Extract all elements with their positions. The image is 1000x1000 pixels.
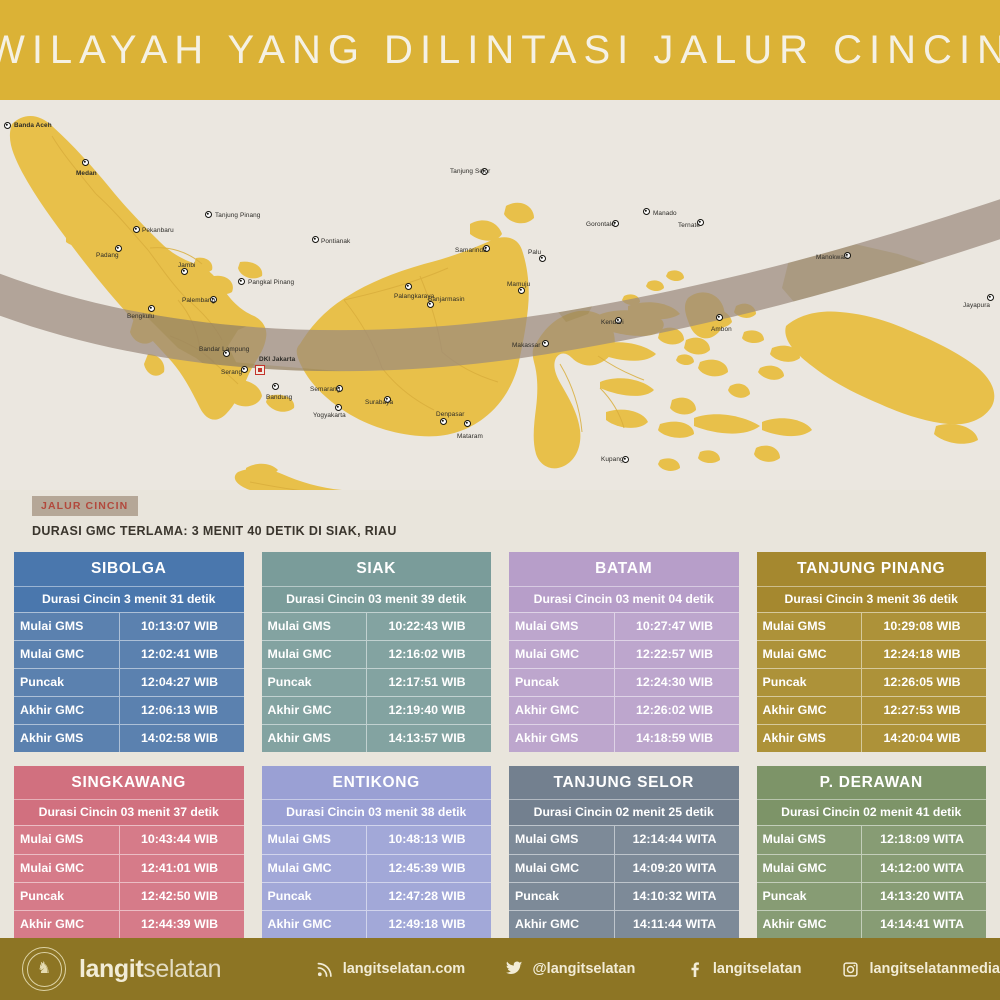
card-city-name: TANJUNG SELOR (509, 766, 739, 800)
city-label: Mamuju (507, 281, 530, 288)
row-label: Akhir GMS (14, 725, 120, 752)
table-row: Akhir GMC14:11:44 WITA (509, 910, 739, 938)
row-label: Akhir GMC (262, 911, 368, 938)
row-value: 12:47:28 WIB (367, 883, 491, 910)
row-value: 10:29:08 WIB (862, 613, 986, 640)
city-label: Bandung (266, 394, 292, 401)
instagram-icon (841, 960, 860, 979)
table-row: Akhir GMC12:44:39 WIB (14, 910, 244, 938)
table-row: Mulai GMS10:29:08 WIB (757, 612, 987, 640)
row-value: 12:06:13 WIB (120, 697, 244, 724)
table-row: Mulai GMS10:43:44 WIB (14, 825, 244, 853)
row-label: Akhir GMS (509, 725, 615, 752)
row-value: 14:14:41 WITA (862, 911, 986, 938)
row-label: Puncak (509, 669, 615, 696)
row-label: Mulai GMC (509, 641, 615, 668)
city-label: Serang (221, 369, 242, 376)
city-label: Manokwari (816, 254, 848, 261)
table-row: Puncak14:13:20 WITA (757, 882, 987, 910)
row-label: Puncak (757, 883, 863, 910)
row-value: 12:44:39 WIB (120, 911, 244, 938)
city-label: Denpasar (436, 411, 465, 418)
row-label: Puncak (262, 669, 368, 696)
social-twitter-label: @langitselatan (533, 961, 636, 977)
city-label: Palembang (182, 297, 215, 304)
city-marker (716, 314, 723, 321)
city-label: Jambi (178, 262, 196, 269)
row-label: Mulai GMS (14, 613, 120, 640)
card-city-name: P. DERAWAN (757, 766, 987, 800)
city-marker (464, 420, 471, 427)
langitselatan-logo-icon: ♞ (22, 947, 66, 991)
table-row: Mulai GMC12:41:01 WIB (14, 854, 244, 882)
row-value: 10:27:47 WIB (615, 613, 739, 640)
row-label: Mulai GMC (509, 855, 615, 882)
city-label: Bengkulu (127, 313, 154, 320)
facebook-icon (685, 960, 704, 979)
social-instagram[interactable]: langitselatanmedia (841, 960, 1000, 979)
table-row: Mulai GMC12:02:41 WIB (14, 640, 244, 668)
city-label: Palu (528, 249, 541, 256)
table-row: Mulai GMS10:13:07 WIB (14, 612, 244, 640)
row-label: Mulai GMC (757, 855, 863, 882)
row-label: Akhir GMC (509, 697, 615, 724)
timing-card: ENTIKONGDurasi Cincin 03 menit 38 detikM… (262, 766, 492, 966)
city-label: Jayapura (963, 302, 990, 309)
row-value: 10:22:43 WIB (367, 613, 491, 640)
city-label: Pangkal Pinang (248, 279, 294, 286)
card-city-name: SINGKAWANG (14, 766, 244, 800)
page-title: WILAYAH YANG DILINTASI JALUR CINCIN (0, 28, 1000, 73)
city-marker (115, 245, 122, 252)
row-label: Mulai GMC (14, 641, 120, 668)
city-marker (335, 404, 342, 411)
social-website-label: langitselatan.com (343, 961, 465, 977)
table-row: Mulai GMC14:12:00 WITA (757, 854, 987, 882)
row-label: Mulai GMS (757, 613, 863, 640)
city-marker (255, 365, 265, 375)
row-label: Akhir GMS (757, 725, 863, 752)
row-label: Akhir GMC (757, 911, 863, 938)
row-label: Akhir GMS (262, 725, 368, 752)
row-value: 12:26:05 WIB (862, 669, 986, 696)
row-label: Akhir GMC (509, 911, 615, 938)
city-label: Ternate (678, 222, 700, 229)
city-label: Banjarmasin (428, 296, 465, 303)
row-label: Puncak (262, 883, 368, 910)
row-value: 14:13:20 WITA (862, 883, 986, 910)
legend-chip-jalur-cincin: JALUR CINCIN (32, 496, 138, 516)
table-row: Mulai GMC12:45:39 WIB (262, 854, 492, 882)
row-label: Puncak (14, 883, 120, 910)
row-value: 12:49:18 WIB (367, 911, 491, 938)
horse-rider-glyph: ♞ (37, 961, 51, 977)
row-label: Akhir GMC (757, 697, 863, 724)
table-row: Akhir GMC12:49:18 WIB (262, 910, 492, 938)
brand-block: ♞ langitselatan (0, 947, 307, 991)
row-label: Mulai GMS (509, 826, 615, 853)
row-value: 14:11:44 WITA (615, 911, 739, 938)
row-value: 12:41:01 WIB (120, 855, 244, 882)
timing-card: SIBOLGADurasi Cincin 3 menit 31 detikMul… (14, 552, 244, 752)
rss-icon (315, 960, 334, 979)
row-value: 12:14:44 WITA (615, 826, 739, 853)
social-facebook-label: langitselatan (713, 961, 802, 977)
social-twitter[interactable]: @langitselatan (505, 960, 685, 979)
row-label: Mulai GMS (262, 826, 368, 853)
row-value: 14:02:58 WIB (120, 725, 244, 752)
city-label: Padang (96, 252, 119, 259)
city-label: Kupang (601, 456, 624, 463)
row-label: Akhir GMC (14, 697, 120, 724)
table-row: Akhir GMS14:18:59 WIB (509, 724, 739, 752)
row-value: 12:26:02 WIB (615, 697, 739, 724)
city-label: Kendari (601, 319, 624, 326)
legend-note: DURASI GMC TERLAMA: 3 MENIT 40 DETIK DI … (32, 524, 1000, 538)
row-value: 14:12:00 WITA (862, 855, 986, 882)
city-marker (4, 122, 11, 129)
card-city-name: ENTIKONG (262, 766, 492, 800)
title-bar: WILAYAH YANG DILINTASI JALUR CINCIN (0, 0, 1000, 100)
city-label: Makassar (512, 342, 541, 349)
card-duration: Durasi Cincin 03 menit 37 detik (14, 799, 244, 825)
card-duration: Durasi Cincin 3 menit 36 detik (757, 586, 987, 612)
row-value: 10:13:07 WIB (120, 613, 244, 640)
table-row: Mulai GMC14:09:20 WITA (509, 854, 739, 882)
row-label: Mulai GMS (14, 826, 120, 853)
city-label: Pekanbaru (142, 227, 174, 234)
card-duration: Durasi Cincin 3 menit 31 detik (14, 586, 244, 612)
table-row: Mulai GMC12:22:57 WIB (509, 640, 739, 668)
timing-card: P. DERAWANDurasi Cincin 02 menit 41 deti… (757, 766, 987, 966)
table-row: Mulai GMS10:27:47 WIB (509, 612, 739, 640)
row-value: 12:19:40 WIB (367, 697, 491, 724)
social-instagram-label: langitselatanmedia (869, 961, 1000, 977)
city-marker (205, 211, 212, 218)
row-value: 12:42:50 WIB (120, 883, 244, 910)
table-row: Mulai GMC12:16:02 WIB (262, 640, 492, 668)
card-duration: Durasi Cincin 02 menit 25 detik (509, 799, 739, 825)
table-row: Puncak12:17:51 WIB (262, 668, 492, 696)
table-row: Puncak14:10:32 WITA (509, 882, 739, 910)
row-value: 10:43:44 WIB (120, 826, 244, 853)
row-value: 12:02:41 WIB (120, 641, 244, 668)
city-label: Tanjung Pinang (215, 212, 260, 219)
city-label: Semarang (310, 386, 340, 393)
city-label: Samarinda (455, 247, 487, 254)
table-row: Puncak12:26:05 WIB (757, 668, 987, 696)
map-legend: JALUR CINCIN DURASI GMC TERLAMA: 3 MENIT… (0, 490, 1000, 552)
row-value: 12:27:53 WIB (862, 697, 986, 724)
card-duration: Durasi Cincin 03 menit 04 detik (509, 586, 739, 612)
brand-light: selatan (143, 955, 221, 983)
row-value: 14:09:20 WITA (615, 855, 739, 882)
city-marker (312, 236, 319, 243)
city-label: Surabaya (365, 399, 393, 406)
row-value: 12:45:39 WIB (367, 855, 491, 882)
row-value: 12:24:30 WIB (615, 669, 739, 696)
row-label: Puncak (14, 669, 120, 696)
card-duration: Durasi Cincin 03 menit 38 detik (262, 799, 492, 825)
row-value: 10:48:13 WIB (367, 826, 491, 853)
row-value: 12:22:57 WIB (615, 641, 739, 668)
row-label: Mulai GMC (262, 855, 368, 882)
city-marker (643, 208, 650, 215)
social-website[interactable]: langitselatan.com (315, 960, 505, 979)
city-timing-cards: SIBOLGADurasi Cincin 3 menit 31 detikMul… (0, 552, 1000, 966)
table-row: Puncak12:47:28 WIB (262, 882, 492, 910)
table-row: Mulai GMC12:24:18 WIB (757, 640, 987, 668)
city-label: Yogyakarta (313, 412, 346, 419)
table-row: Akhir GMC12:19:40 WIB (262, 696, 492, 724)
card-city-name: TANJUNG PINANG (757, 552, 987, 586)
row-value: 12:17:51 WIB (367, 669, 491, 696)
city-marker (987, 294, 994, 301)
table-row: Akhir GMC12:26:02 WIB (509, 696, 739, 724)
row-value: 12:16:02 WIB (367, 641, 491, 668)
row-value: 14:18:59 WIB (615, 725, 739, 752)
row-label: Mulai GMS (757, 826, 863, 853)
row-value: 14:13:57 WIB (367, 725, 491, 752)
city-marker (440, 418, 447, 425)
city-label: Medan (76, 170, 97, 177)
city-marker (148, 305, 155, 312)
table-row: Akhir GMC14:14:41 WITA (757, 910, 987, 938)
row-value: 12:24:18 WIB (862, 641, 986, 668)
table-row: Puncak12:04:27 WIB (14, 668, 244, 696)
card-duration: Durasi Cincin 03 menit 39 detik (262, 586, 492, 612)
table-row: Akhir GMS14:13:57 WIB (262, 724, 492, 752)
row-value: 12:18:09 WITA (862, 826, 986, 853)
table-row: Mulai GMS10:48:13 WIB (262, 825, 492, 853)
city-marker (405, 283, 412, 290)
row-value: 12:04:27 WIB (120, 669, 244, 696)
row-label: Puncak (509, 883, 615, 910)
city-label: Ambon (711, 326, 732, 333)
timing-card: TANJUNG PINANGDurasi Cincin 3 menit 36 d… (757, 552, 987, 752)
city-label: DKI Jakarta (259, 356, 295, 363)
table-row: Puncak12:24:30 WIB (509, 668, 739, 696)
timing-card: SINGKAWANGDurasi Cincin 03 menit 37 deti… (14, 766, 244, 966)
row-label: Mulai GMS (509, 613, 615, 640)
city-label: Manado (653, 210, 677, 217)
row-label: Mulai GMC (262, 641, 368, 668)
row-value: 14:10:32 WITA (615, 883, 739, 910)
brand-bold: langit (79, 955, 143, 983)
city-marker (82, 159, 89, 166)
table-row: Akhir GMS14:20:04 WIB (757, 724, 987, 752)
footer-bar: ♞ langitselatan langitselatan.com (0, 938, 1000, 1000)
timing-card: TANJUNG SELORDurasi Cincin 02 menit 25 d… (509, 766, 739, 966)
timing-card: SIAKDurasi Cincin 03 menit 39 detikMulai… (262, 552, 492, 752)
card-city-name: BATAM (509, 552, 739, 586)
row-value: 14:20:04 WIB (862, 725, 986, 752)
row-label: Mulai GMS (262, 613, 368, 640)
table-row: Akhir GMC12:27:53 WIB (757, 696, 987, 724)
indonesia-map: Banda AcehMedanTanjung PinangPekanbaruPa… (0, 100, 1000, 490)
city-marker (272, 383, 279, 390)
row-label: Akhir GMC (262, 697, 368, 724)
row-label: Akhir GMC (14, 911, 120, 938)
city-label: Pontianak (321, 238, 350, 245)
table-row: Puncak12:42:50 WIB (14, 882, 244, 910)
brand-wordmark: langitselatan (79, 957, 221, 982)
row-label: Mulai GMC (14, 855, 120, 882)
table-row: Akhir GMC12:06:13 WIB (14, 696, 244, 724)
social-facebook[interactable]: langitselatan (685, 960, 842, 979)
infographic-page: WILAYAH YANG DILINTASI JALUR CINCIN (0, 0, 1000, 1000)
city-label: Bandar Lampung (199, 346, 249, 353)
city-label: Banda Aceh (14, 122, 52, 129)
card-duration: Durasi Cincin 02 menit 41 detik (757, 799, 987, 825)
city-label: Tanjung Selor (450, 168, 490, 175)
row-label: Mulai GMC (757, 641, 863, 668)
map-svg (0, 100, 1000, 490)
city-marker (542, 340, 549, 347)
row-label: Puncak (757, 669, 863, 696)
table-row: Mulai GMS12:18:09 WITA (757, 825, 987, 853)
timing-card: BATAMDurasi Cincin 03 menit 04 detikMula… (509, 552, 739, 752)
table-row: Mulai GMS10:22:43 WIB (262, 612, 492, 640)
card-city-name: SIBOLGA (14, 552, 244, 586)
table-row: Akhir GMS14:02:58 WIB (14, 724, 244, 752)
twitter-icon (505, 960, 524, 979)
city-marker (238, 278, 245, 285)
table-row: Mulai GMS12:14:44 WITA (509, 825, 739, 853)
city-label: Gorontalo (586, 221, 615, 228)
city-label: Mataram (457, 433, 483, 440)
city-marker (133, 226, 140, 233)
card-city-name: SIAK (262, 552, 492, 586)
